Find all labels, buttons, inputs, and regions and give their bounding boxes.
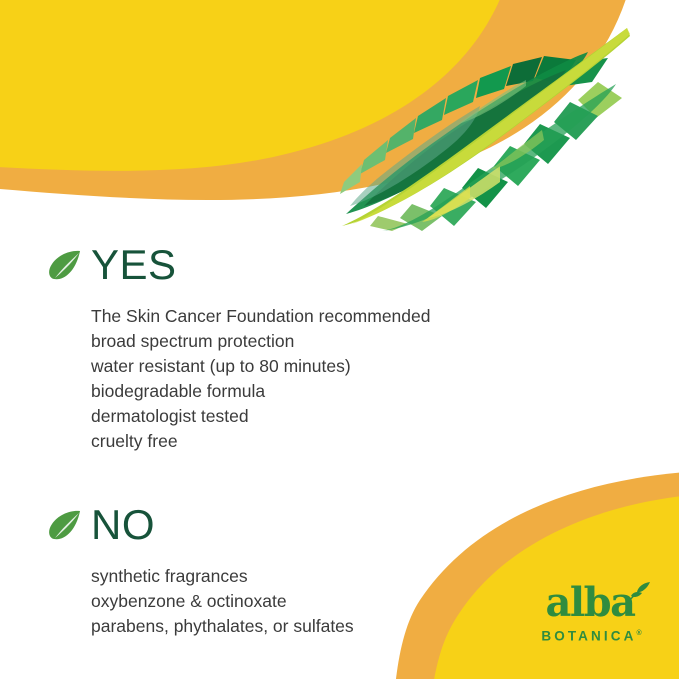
- section-no-header: NO: [48, 500, 354, 550]
- list-item: dermatologist tested: [91, 404, 431, 429]
- leaf-icon: [48, 249, 82, 281]
- section-title: NO: [91, 504, 155, 546]
- brand-wordmark-row: alba: [546, 583, 635, 623]
- list-item: broad spectrum protection: [91, 329, 431, 354]
- product-feature-graphic: YES The Skin Cancer Foundation recommend…: [0, 0, 679, 679]
- brand-subtitle: BOTANICA®: [525, 626, 655, 645]
- list-item: oxybenzone & octinoxate: [91, 589, 354, 614]
- content-layer: YES The Skin Cancer Foundation recommend…: [0, 0, 679, 679]
- registered-mark: ®: [636, 630, 641, 637]
- brand-logo: alba BOTANICA®: [525, 583, 655, 645]
- section-yes: YES The Skin Cancer Foundation recommend…: [48, 240, 431, 454]
- section-no-list: synthetic fragrances oxybenzone & octino…: [91, 564, 354, 639]
- brand-subtitle-text: BOTANICA: [541, 629, 636, 644]
- list-item: parabens, phythalates, or sulfates: [91, 614, 354, 639]
- section-title: YES: [91, 244, 177, 286]
- leaf-sprig-icon: [629, 581, 651, 601]
- list-item: cruelty free: [91, 429, 431, 454]
- section-no: NO synthetic fragrances oxybenzone & oct…: [48, 500, 354, 639]
- leaf-icon: [48, 509, 82, 541]
- list-item: water resistant (up to 80 minutes): [91, 354, 431, 379]
- list-item: synthetic fragrances: [91, 564, 354, 589]
- list-item: The Skin Cancer Foundation recommended: [91, 304, 431, 329]
- section-yes-list: The Skin Cancer Foundation recommended b…: [91, 304, 431, 454]
- brand-wordmark: alba: [546, 583, 635, 623]
- list-item: biodegradable formula: [91, 379, 431, 404]
- section-yes-header: YES: [48, 240, 431, 290]
